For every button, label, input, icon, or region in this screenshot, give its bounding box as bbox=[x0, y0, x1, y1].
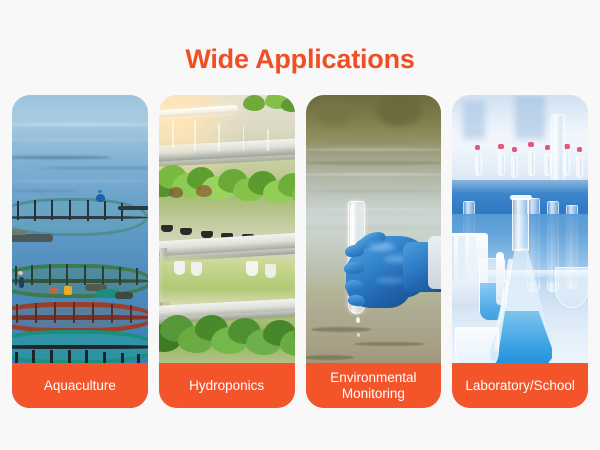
application-card-hydroponics[interactable]: Hydroponics bbox=[159, 95, 295, 408]
hydroponics-photo bbox=[159, 95, 295, 408]
application-card-aquaculture[interactable]: Aquaculture bbox=[12, 95, 148, 408]
aquaculture-photo bbox=[12, 95, 148, 408]
page-title: Wide Applications bbox=[0, 42, 600, 76]
application-cards-row: Aquaculture bbox=[12, 95, 588, 408]
card-caption-aquaculture: Aquaculture bbox=[12, 363, 148, 408]
application-card-laboratory-school[interactable]: Laboratory/School bbox=[452, 95, 588, 408]
card-caption-hydroponics: Hydroponics bbox=[159, 363, 295, 408]
laboratory-school-photo bbox=[452, 95, 588, 408]
card-caption-environmental-monitoring: Environmental Monitoring bbox=[306, 363, 442, 408]
card-caption-laboratory-school: Laboratory/School bbox=[452, 363, 588, 408]
application-card-environmental-monitoring[interactable]: Environmental Monitoring bbox=[306, 95, 442, 408]
environmental-monitoring-photo bbox=[306, 95, 442, 408]
